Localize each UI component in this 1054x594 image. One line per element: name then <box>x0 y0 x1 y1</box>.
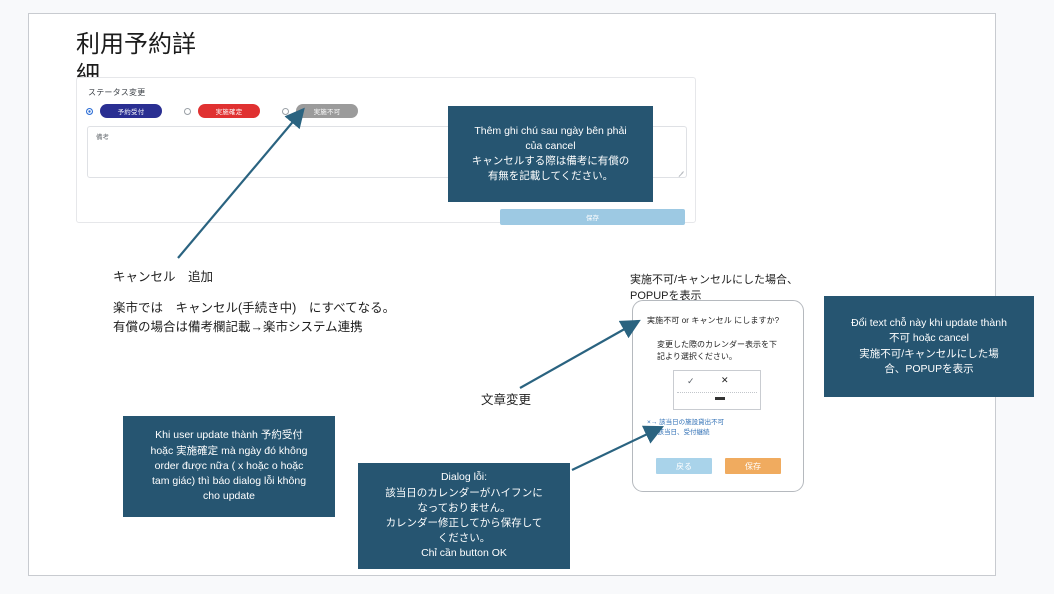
status-change-label: ステータス変更 <box>88 87 145 98</box>
resize-handle-icon[interactable] <box>677 169 684 176</box>
radio-selected-icon[interactable] <box>86 108 93 115</box>
dotted-divider <box>677 392 757 393</box>
cross-icon[interactable]: ✕ <box>721 375 729 386</box>
annotation-cancel-add: キャンセル 追加 <box>113 268 213 287</box>
annotation-sentence-change: 文章変更 <box>481 391 531 410</box>
popup-instruction: 変更した際のカレンダー表示を下 記より選択ください。 <box>657 339 785 363</box>
save-button[interactable]: 保存 <box>500 209 685 225</box>
popup-back-button[interactable]: 戻る <box>656 458 712 474</box>
status-option-execution-impossible[interactable]: 実施不可 <box>282 104 358 118</box>
status-pill-label: 実施不可 <box>296 104 358 118</box>
status-pill-label: 実施確定 <box>198 104 260 118</box>
screenshot-canvas: 利用予約詳 細 ステータス変更 予約受付 実施確定 実施不可 備考 保存 Thê… <box>0 0 1054 594</box>
status-radio-row: 予約受付 実施確定 実施不可 <box>86 104 380 118</box>
remarks-label: 備考 <box>96 131 109 141</box>
popup-mockup: 実施不可 or キャンセル にしますか? 変更した際のカレンダー表示を下 記より… <box>632 300 804 492</box>
radio-unselected-icon[interactable] <box>184 108 191 115</box>
calendar-display-selector[interactable]: ✓ ✕ <box>673 370 761 410</box>
radio-unselected-icon[interactable] <box>282 108 289 115</box>
status-option-execution-confirmed[interactable]: 実施確定 <box>184 104 260 118</box>
status-pill-label: 予約受付 <box>100 104 162 118</box>
dash-icon[interactable] <box>715 397 725 400</box>
annotation-error-dialog-note: Dialog lỗi: 該当日のカレンダーがハイフンに なっておりません。 カレ… <box>358 463 570 569</box>
popup-question: 実施不可 or キャンセル にしますか? <box>647 315 779 326</box>
popup-legend: ×→ 該当日の施設貸出不可 -→ 該当日、受付継続 <box>647 418 724 438</box>
popup-save-button[interactable]: 保存 <box>725 458 781 474</box>
annotation-text-change-note: Đổi text chỗ này khi update thành 不可 hoặ… <box>824 296 1034 397</box>
check-icon[interactable]: ✓ <box>687 376 695 387</box>
annotation-update-error-note: Khi user update thành 予約受付 hoặc 実施確定 mà … <box>123 416 335 517</box>
status-option-reservation-accepted[interactable]: 予約受付 <box>86 104 162 118</box>
annotation-rakuichi-flow: 楽市では キャンセル(手続き中) にすべてなる。 有償の場合は備考欄記載→楽市シ… <box>113 299 395 337</box>
annotation-remarks-note: Thêm ghi chú sau ngày bên phải của cance… <box>448 106 653 202</box>
